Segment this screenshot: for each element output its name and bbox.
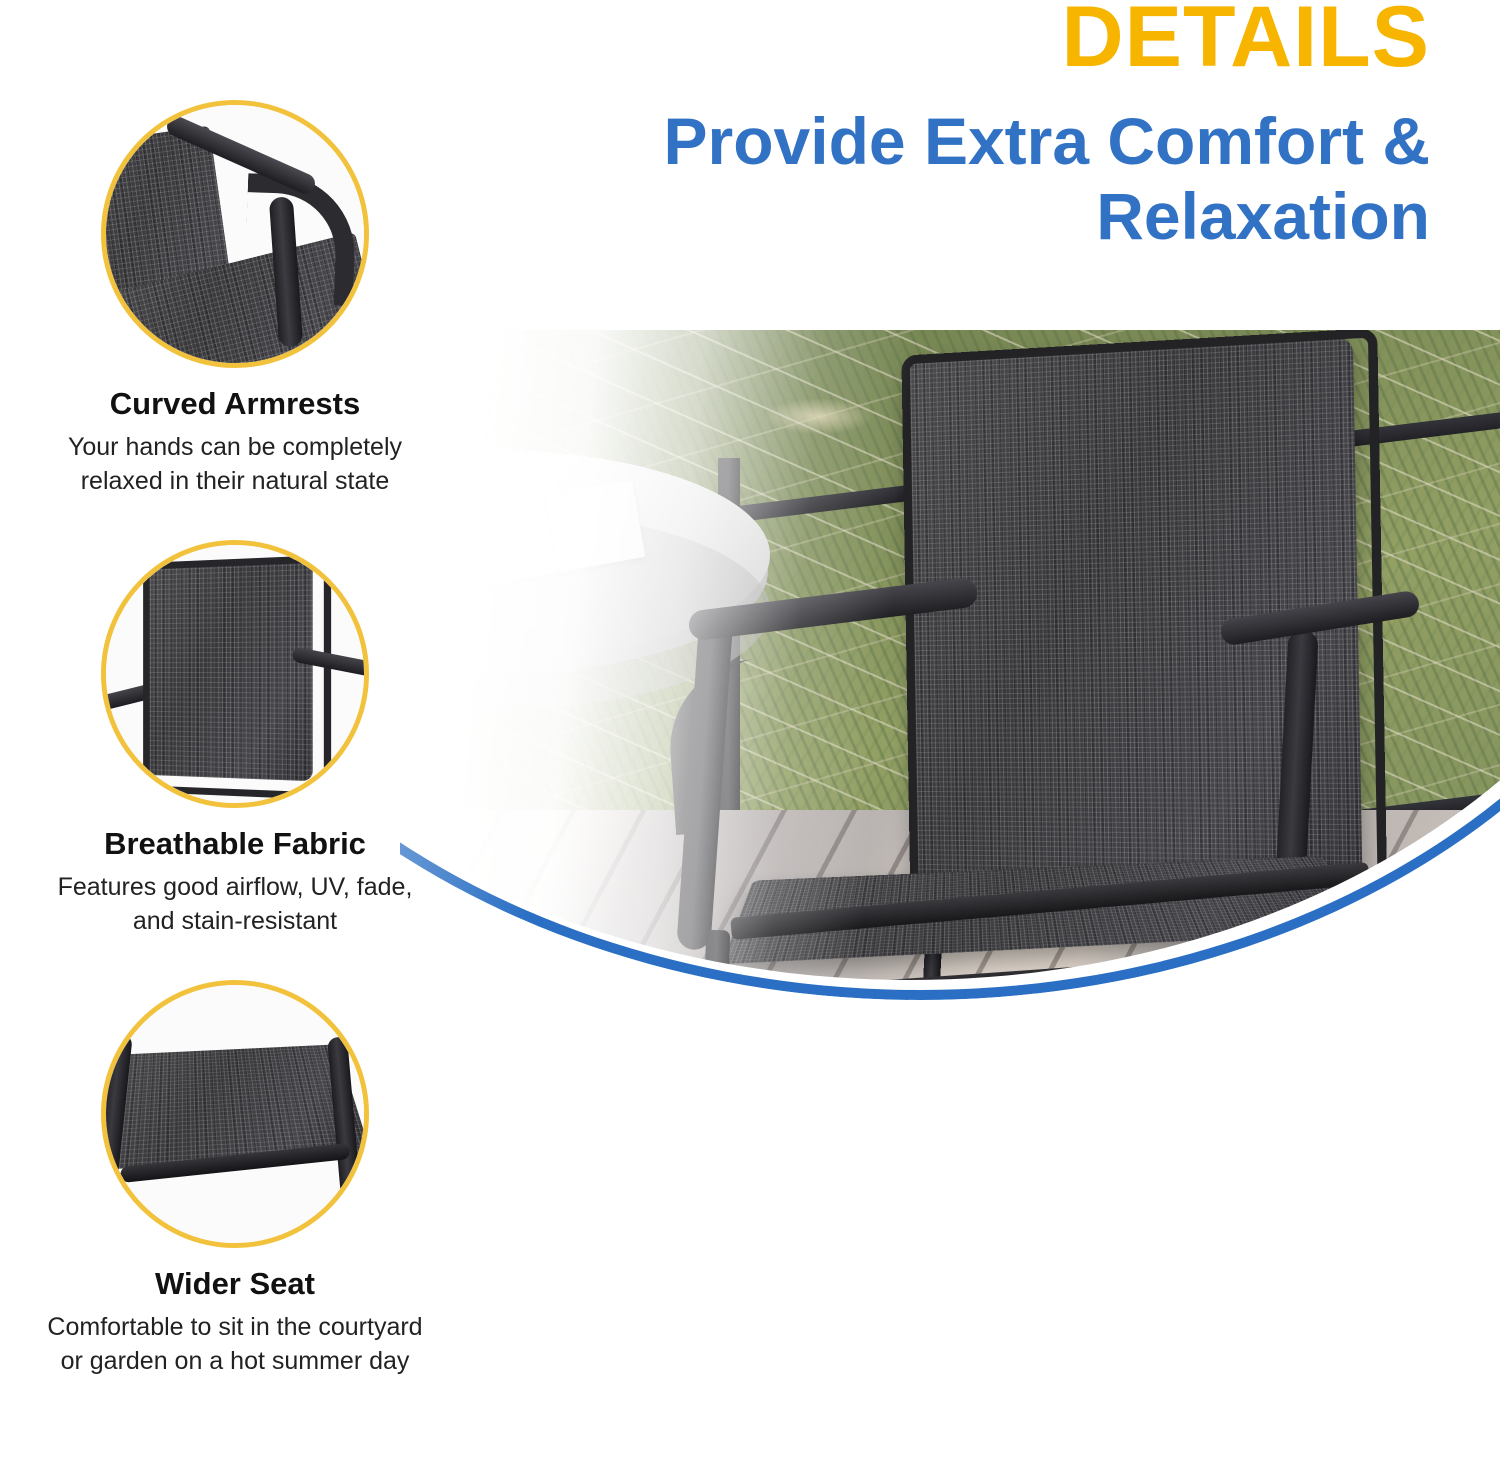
hero-photo	[400, 330, 1500, 1473]
infographic-page: DETAILS Provide Extra Comfort & Relaxati…	[0, 0, 1500, 1473]
thumb-arm-curve	[244, 173, 357, 306]
feature-block-wider-seat: Wider Seat Comfortable to sit in the cou…	[0, 980, 470, 1378]
thumb-backrest-frame	[143, 555, 331, 800]
feature-desc-line2: or garden on a hot summer day	[0, 1344, 470, 1378]
armrest-thumbnail	[106, 105, 364, 363]
feature-desc-line1: Features good airflow, UV, fade,	[0, 870, 470, 904]
chair-front-right-leg	[1298, 930, 1336, 1331]
feature-desc-line1: Your hands can be completely	[0, 430, 470, 464]
feature-description: Features good airflow, UV, fade, and sta…	[0, 870, 470, 938]
feature-block-curved-armrests: Curved Armrests Your hands can be comple…	[0, 100, 470, 498]
feature-image-breathable-fabric	[101, 540, 369, 808]
feature-desc-line1: Comfortable to sit in the courtyard	[0, 1310, 470, 1344]
feature-title: Breathable Fabric	[0, 826, 470, 862]
seat-thumbnail	[106, 985, 364, 1243]
feature-block-breathable-fabric: Breathable Fabric Features good airflow,…	[0, 540, 470, 938]
feature-description: Comfortable to sit in the courtyard or g…	[0, 1310, 470, 1378]
feature-image-curved-armrests	[101, 100, 369, 368]
feature-image-wider-seat	[101, 980, 369, 1248]
feature-description: Your hands can be completely relaxed in …	[0, 430, 470, 498]
fabric-thumbnail	[106, 545, 364, 803]
feature-title: Curved Armrests	[0, 386, 470, 422]
blue-arc-accent	[400, 330, 1500, 1000]
feature-desc-line2: and stain-resistant	[0, 904, 470, 938]
feature-title: Wider Seat	[0, 1266, 470, 1302]
hero-photo-scene	[400, 330, 1500, 1473]
eyebrow-heading: DETAILS	[1061, 0, 1430, 80]
feature-desc-line2: relaxed in their natural state	[0, 464, 470, 498]
